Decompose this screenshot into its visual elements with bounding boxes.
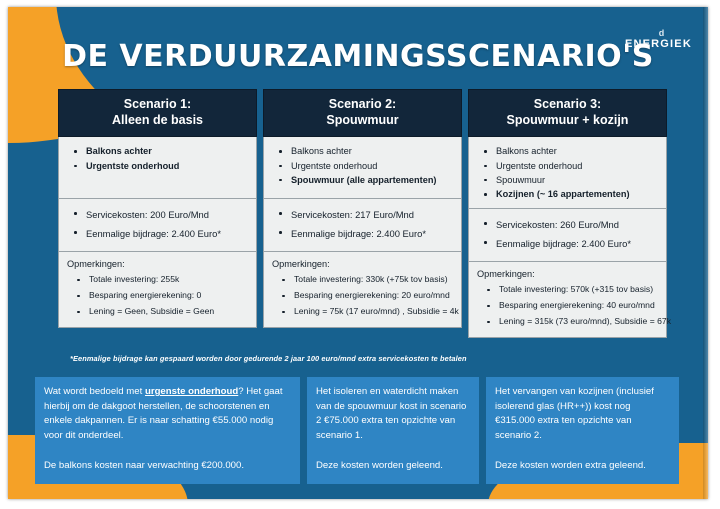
scenario-3-notes: Opmerkingen: Totale investering: 570k (+… xyxy=(468,262,667,338)
callout-1-underlined-term: urgenste onderhoud xyxy=(145,386,238,397)
scenario-2-header: Scenario 2: Spouwmuur xyxy=(263,89,462,137)
list-item: Totale investering: 330k (+75k tov basis… xyxy=(270,272,455,288)
page-title: DE VERDUURZAMINGSSCENARIO'S xyxy=(8,39,708,74)
scenario-1-notes: Opmerkingen: Totale investering: 255k Be… xyxy=(58,252,257,328)
scenario-card-2: Scenario 2: Spouwmuur Balkons achter Urg… xyxy=(263,89,462,338)
list-item: Spouwmuur xyxy=(475,173,660,187)
callout-2-paragraph-2: Deze kosten worden geleend. xyxy=(316,459,470,474)
slide-canvas: d ENERGIEK DE VERDUURZAMINGSSCENARIO'S S… xyxy=(8,7,708,499)
scenario-3-title-line2: Spouwmuur + kozijn xyxy=(473,113,662,129)
scenario-2-notes: Opmerkingen: Totale investering: 330k (+… xyxy=(263,252,462,328)
list-item: Eenmalige bijdrage: 2.400 Euro* xyxy=(270,225,455,244)
scenario-2-features: Balkons achter Urgentste onderhoud Spouw… xyxy=(263,137,462,199)
notes-title: Opmerkingen: xyxy=(67,259,250,269)
callout-1-paragraph-2: De balkons kosten naar verwachting €200.… xyxy=(44,459,291,474)
scenario-1-header: Scenario 1: Alleen de basis xyxy=(58,89,257,137)
scenario-1-title-line1: Scenario 1: xyxy=(124,97,191,111)
list-item: Servicekosten: 200 Euro/Mnd xyxy=(65,206,250,225)
callout-1-lead: Wat wordt bedoeld met xyxy=(44,386,145,397)
list-item: Lening = Geen, Subsidie = Geen xyxy=(65,304,250,320)
callout-3-paragraph-1: Het vervangen van kozijnen (inclusief is… xyxy=(495,385,670,443)
scenario-2-title-line1: Scenario 2: xyxy=(329,97,396,111)
list-item: Eenmalige bijdrage: 2.400 Euro* xyxy=(475,235,660,254)
list-item: Balkons achter xyxy=(475,144,660,158)
callout-box-3: Het vervangen van kozijnen (inclusief is… xyxy=(486,377,679,484)
list-item: Urgentste onderhoud xyxy=(270,159,455,173)
list-item: Lening = 315k (73 euro/mnd), Subsidie = … xyxy=(475,314,660,330)
scenario-card-group: Scenario 1: Alleen de basis Balkons acht… xyxy=(58,89,673,338)
notes-title: Opmerkingen: xyxy=(477,269,660,279)
scenario-2-costs: Servicekosten: 217 Euro/Mnd Eenmalige bi… xyxy=(263,199,462,252)
list-item: Balkons achter xyxy=(65,144,250,158)
scenario-1-features: Balkons achter Urgentste onderhoud xyxy=(58,137,257,199)
scenario-1-costs: Servicekosten: 200 Euro/Mnd Eenmalige bi… xyxy=(58,199,257,252)
callout-2-paragraph-1: Het isoleren en waterdicht maken van de … xyxy=(316,385,470,443)
scenario-3-header: Scenario 3: Spouwmuur + kozijn xyxy=(468,89,667,137)
list-item: Balkons achter xyxy=(270,144,455,158)
callout-box-1: Wat wordt bedoeld met urgenste onderhoud… xyxy=(35,377,300,484)
list-item: Urgentste onderhoud xyxy=(475,159,660,173)
list-item: Totale investering: 255k xyxy=(65,272,250,288)
list-item: Spouwmuur (alle appartementen) xyxy=(270,173,455,187)
scenario-card-1: Scenario 1: Alleen de basis Balkons acht… xyxy=(58,89,257,338)
list-item: Urgentste onderhoud xyxy=(65,159,250,173)
list-item: Servicekosten: 260 Euro/Mnd xyxy=(475,216,660,235)
footnote-text: *Eenmalige bijdrage kan gespaard worden … xyxy=(70,354,670,363)
list-item: Totale investering: 570k (+315 tov basis… xyxy=(475,282,660,298)
logo-mark-icon: d xyxy=(631,29,692,38)
scenario-3-title-line1: Scenario 3: xyxy=(534,97,601,111)
callout-box-2: Het isoleren en waterdicht maken van de … xyxy=(307,377,479,484)
list-item: Eenmalige bijdrage: 2.400 Euro* xyxy=(65,225,250,244)
paper-edge-shadow xyxy=(703,7,708,499)
scenario-2-title-line2: Spouwmuur xyxy=(268,113,457,129)
list-item: Besparing energierekening: 40 euro/mnd xyxy=(475,298,660,314)
scenario-3-costs: Servicekosten: 260 Euro/Mnd Eenmalige bi… xyxy=(468,209,667,262)
callout-group: Wat wordt bedoeld met urgenste onderhoud… xyxy=(35,377,680,484)
callout-3-paragraph-2: Deze kosten worden extra geleend. xyxy=(495,459,670,474)
list-item: Besparing energierekening: 0 xyxy=(65,288,250,304)
scenario-card-3: Scenario 3: Spouwmuur + kozijn Balkons a… xyxy=(468,89,667,338)
notes-title: Opmerkingen: xyxy=(272,259,455,269)
list-item: Besparing energierekening: 20 euro/mnd xyxy=(270,288,455,304)
callout-1-paragraph-1: Wat wordt bedoeld met urgenste onderhoud… xyxy=(44,385,291,443)
list-item: Kozijnen (~ 16 appartementen) xyxy=(475,187,660,201)
scenario-1-title-line2: Alleen de basis xyxy=(63,113,252,129)
list-item: Lening = 75k (17 euro/mnd) , Subsidie = … xyxy=(270,304,455,320)
scenario-3-features: Balkons achter Urgentste onderhoud Spouw… xyxy=(468,137,667,209)
list-item: Servicekosten: 217 Euro/Mnd xyxy=(270,206,455,225)
